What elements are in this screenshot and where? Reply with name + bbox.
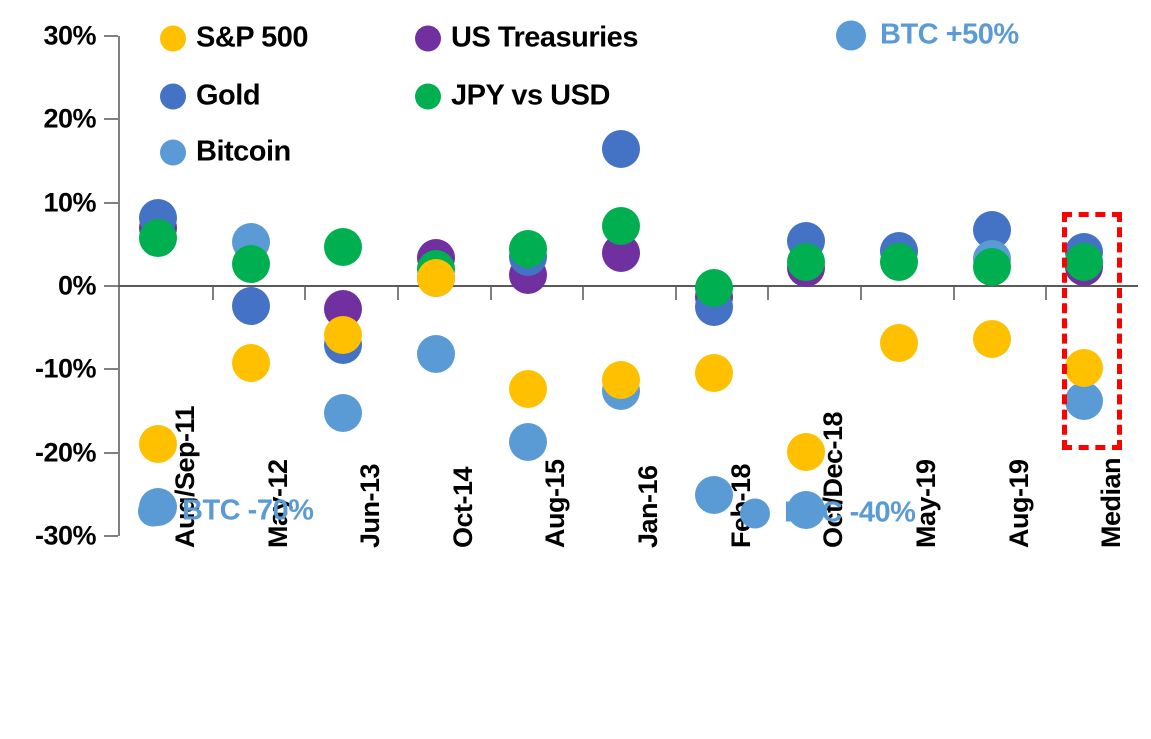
x-axis-tick-mark xyxy=(212,287,214,300)
data-point xyxy=(232,287,270,325)
legend-item[interactable]: Gold xyxy=(160,80,260,113)
x-axis-label: Median xyxy=(1096,458,1127,548)
y-axis-tick-mark xyxy=(104,535,118,537)
y-axis-tick-mark xyxy=(104,452,118,454)
data-point xyxy=(787,243,825,281)
annotation-label: BTC +50% xyxy=(880,19,1019,52)
data-point xyxy=(695,269,733,307)
zero-baseline xyxy=(118,285,1138,287)
x-axis-label: May-19 xyxy=(911,459,942,548)
x-axis-tick-mark xyxy=(1045,287,1047,300)
annotation-label: BTC -40% xyxy=(784,497,915,530)
data-point xyxy=(232,344,270,382)
data-point xyxy=(602,130,640,168)
annotation-callout: BTC -40% xyxy=(740,497,915,530)
legend-swatch-dot-icon xyxy=(160,83,186,109)
y-axis-tick-mark xyxy=(104,118,118,120)
legend-item[interactable]: Bitcoin xyxy=(160,136,291,169)
x-axis-tick-mark xyxy=(304,287,306,300)
data-point xyxy=(509,230,547,268)
legend-label: JPY vs USD xyxy=(451,80,610,113)
legend-item[interactable]: S&P 500 xyxy=(160,22,308,55)
highlight-box xyxy=(1062,212,1122,450)
data-point xyxy=(232,245,270,283)
legend-item[interactable]: JPY vs USD xyxy=(415,80,610,113)
data-point xyxy=(509,423,547,461)
legend-swatch-dot-icon xyxy=(160,139,186,165)
y-axis-tick-label: 10% xyxy=(0,187,96,218)
x-axis-label: Oct-14 xyxy=(448,467,479,548)
y-axis-tick-label: 30% xyxy=(0,21,96,52)
legend-item[interactable]: US Treasuries xyxy=(415,22,638,55)
legend-swatch-dot-icon xyxy=(415,25,441,51)
annotation-callout: BTC +50% xyxy=(836,19,1019,52)
x-axis-tick-mark xyxy=(582,287,584,300)
y-axis-tick-mark xyxy=(104,202,118,204)
annotation-dot-icon xyxy=(138,496,168,526)
data-point xyxy=(417,259,455,297)
x-axis-label: Aug-15 xyxy=(540,459,571,548)
y-axis-tick-label: -20% xyxy=(0,437,96,468)
y-axis-tick-label: 0% xyxy=(0,271,96,302)
x-axis-label: Jan-16 xyxy=(633,465,664,548)
x-axis-tick-mark xyxy=(953,287,955,300)
x-axis-tick-mark xyxy=(397,287,399,300)
annotation-callout: BTC -70% xyxy=(138,495,313,528)
y-axis-tick-label: 20% xyxy=(0,104,96,135)
x-axis-label: Aug-19 xyxy=(1004,459,1035,548)
y-axis-tick-mark xyxy=(104,368,118,370)
data-point xyxy=(602,207,640,245)
legend-label: Bitcoin xyxy=(196,136,291,169)
y-axis-tick-label: -30% xyxy=(0,521,96,552)
data-point xyxy=(139,219,177,257)
x-axis-tick-mark xyxy=(767,287,769,300)
annotation-dot-icon xyxy=(836,20,866,50)
legend-label: US Treasuries xyxy=(451,22,638,55)
data-point xyxy=(324,394,362,432)
y-axis-tick-label: -10% xyxy=(0,354,96,385)
data-point xyxy=(324,316,362,354)
legend-swatch-dot-icon xyxy=(415,83,441,109)
x-axis-tick-mark xyxy=(675,287,677,300)
y-axis-tick-mark xyxy=(104,285,118,287)
data-point xyxy=(324,228,362,266)
legend-label: Gold xyxy=(196,80,260,113)
data-point xyxy=(602,361,640,399)
legend-swatch-dot-icon xyxy=(160,25,186,51)
annotation-dot-icon xyxy=(740,498,770,528)
data-point xyxy=(417,335,455,373)
annotation-label: BTC -70% xyxy=(182,495,313,528)
data-point xyxy=(509,370,547,408)
data-point xyxy=(973,320,1011,358)
data-point xyxy=(880,324,918,362)
legend-label: S&P 500 xyxy=(196,22,308,55)
x-axis-tick-mark xyxy=(490,287,492,300)
scatter-chart: 30%20%10%0%-10%-20%-30% Aug/Sep-11May-12… xyxy=(0,0,1151,739)
data-point xyxy=(973,248,1011,286)
x-axis-label: Jun-13 xyxy=(355,464,386,548)
data-point xyxy=(695,354,733,392)
x-axis-tick-mark xyxy=(860,287,862,300)
y-axis-tick-mark xyxy=(104,35,118,37)
data-point xyxy=(880,243,918,281)
